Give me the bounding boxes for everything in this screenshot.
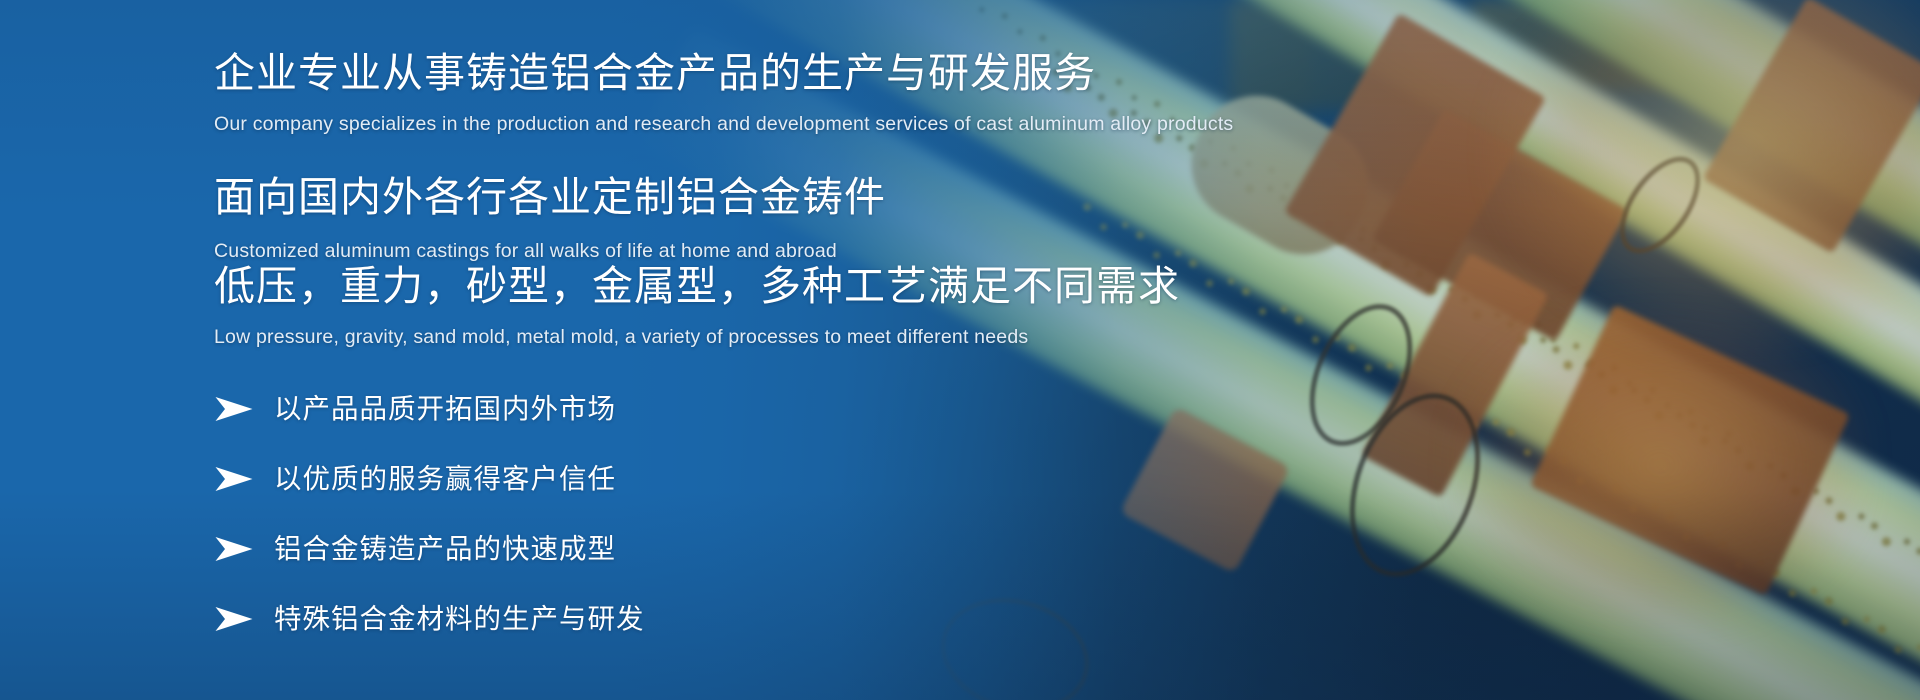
arrow-right-icon: [214, 465, 254, 493]
list-item-label: 铝合金铸造产品的快速成型: [274, 535, 616, 563]
headline-group-3: 低压，重力，砂型，金属型，多种工艺满足不同需求 Low pressure, gr…: [214, 261, 1180, 351]
list-item: 特殊铝合金材料的生产与研发: [214, 595, 1014, 642]
headline-group-1: 企业专业从事铸造铝合金产品的生产与研发服务 Our company specia…: [214, 48, 1233, 138]
list-item: 铝合金铸造产品的快速成型: [214, 525, 1014, 572]
headline-1-cn: 企业专业从事铸造铝合金产品的生产与研发服务: [214, 48, 1233, 99]
banner-content: 企业专业从事铸造铝合金产品的生产与研发服务 Our company specia…: [214, 0, 1614, 700]
headline-1-en: Our company specializes in the productio…: [214, 112, 1233, 137]
headline-3-cn: 低压，重力，砂型，金属型，多种工艺满足不同需求: [214, 261, 1180, 312]
arrow-right-icon: [214, 395, 254, 423]
list-item-label: 以产品品质开拓国内外市场: [274, 395, 616, 423]
feature-bullet-list: 以产品品质开拓国内外市场 以优质的服务赢得客户信任 铝合金铸造产品的快速成型 特…: [214, 385, 1014, 665]
headline-3-en: Low pressure, gravity, sand mold, metal …: [214, 325, 1180, 350]
list-item: 以产品品质开拓国内外市场: [214, 385, 1014, 432]
headline-group-2: 面向国内外各行各业定制铝合金铸件 Customized aluminum cas…: [214, 172, 886, 265]
list-item-label: 以优质的服务赢得客户信任: [274, 465, 616, 493]
headline-2-cn: 面向国内外各行各业定制铝合金铸件: [214, 172, 886, 223]
hero-banner: 企业专业从事铸造铝合金产品的生产与研发服务 Our company specia…: [0, 0, 1920, 700]
list-item-label: 特殊铝合金材料的生产与研发: [274, 605, 645, 633]
arrow-right-icon: [214, 535, 254, 563]
arrow-right-icon: [214, 605, 254, 633]
list-item: 以优质的服务赢得客户信任: [214, 455, 1014, 502]
